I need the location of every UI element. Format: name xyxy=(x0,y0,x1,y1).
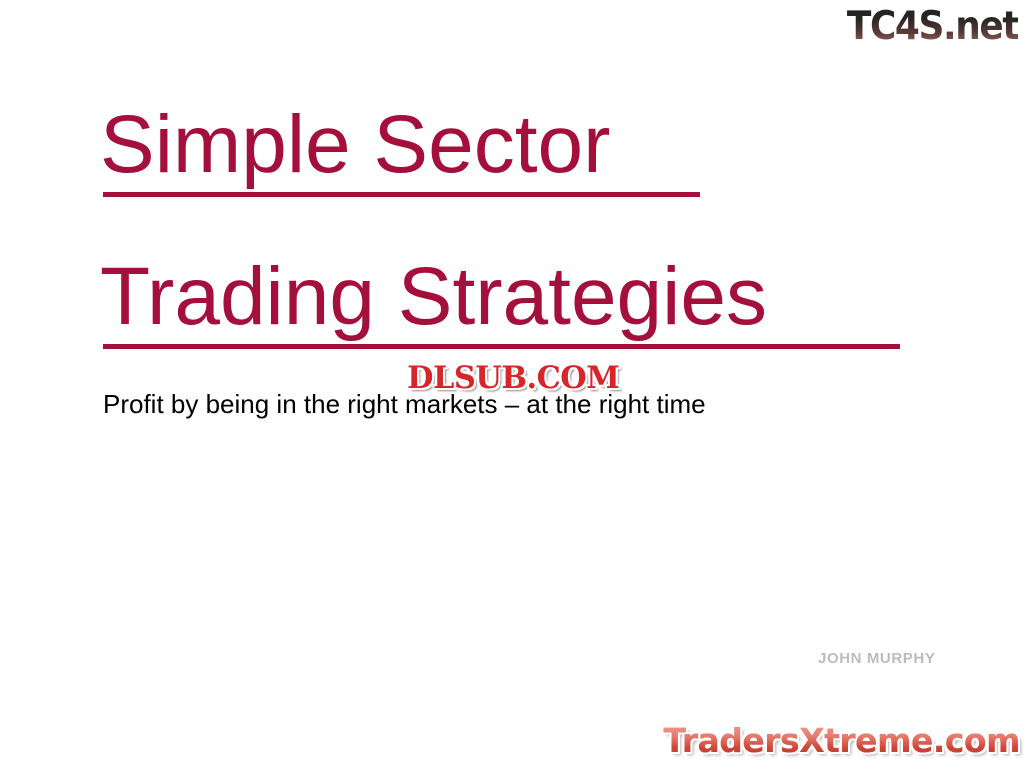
title-line-2-underline xyxy=(103,344,900,349)
tradersxtreme-logo-fill: TradersXtreme.com xyxy=(663,724,1020,757)
dlsub-watermark-text: DLSUB.COM xyxy=(407,360,619,396)
tc4s-logo-text: TC4S.net xyxy=(847,7,1018,46)
tradersxtreme-site-logo[interactable]: TradersXtreme.com TradersXtreme.com xyxy=(672,716,1020,764)
page-title-line-2: Trading Strategies xyxy=(100,256,930,348)
dlsub-watermark: DLSUB.COM xyxy=(368,358,658,398)
tradersxtreme-logo-text: TradersXtreme.com TradersXtreme.com xyxy=(663,724,1020,757)
title-line-1-underline xyxy=(103,192,700,197)
title-line-1-text: Simple Sector xyxy=(100,99,610,190)
slide-title-block: Simple Sector Trading Strategies xyxy=(100,104,930,348)
tc4s-site-logo[interactable]: TC4S.net xyxy=(832,2,1018,50)
title-line-2-text: Trading Strategies xyxy=(100,251,767,342)
author-credit: JOHN MURPHY xyxy=(818,650,935,667)
page-title-line-1: Simple Sector xyxy=(100,104,930,196)
presentation-title-slide: TC4S.net Simple Sector Trading Strategie… xyxy=(0,0,1024,768)
